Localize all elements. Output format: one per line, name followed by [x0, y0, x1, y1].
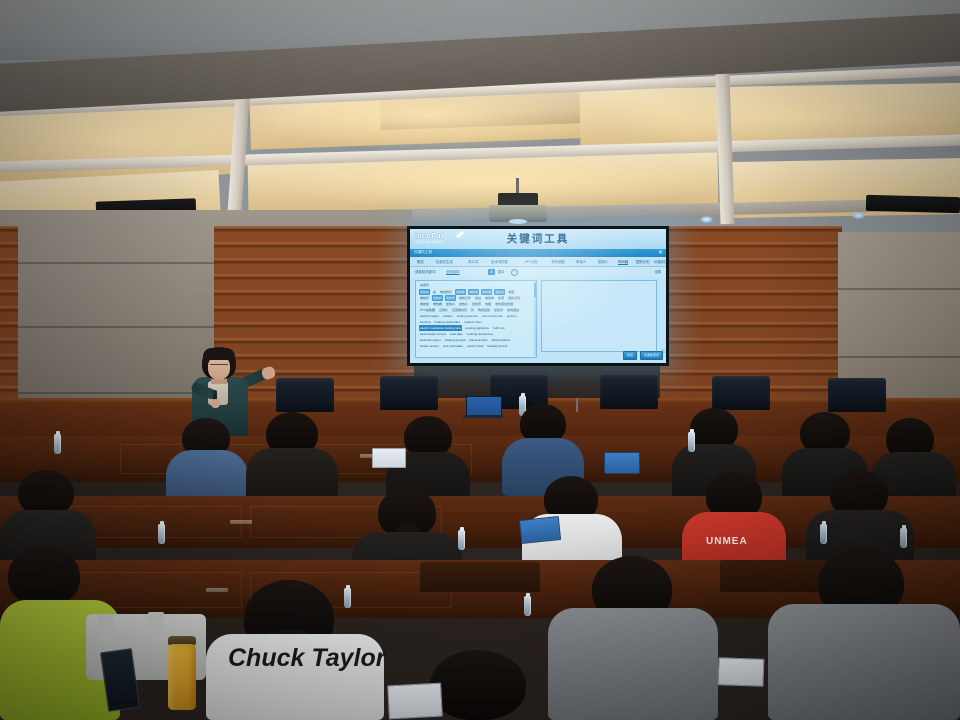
- glasses-icon: [210, 364, 228, 369]
- scrollbar-thumb[interactable]: [534, 283, 537, 297]
- clear-button[interactable]: 清空: [623, 351, 637, 360]
- audience-torso-gray: [548, 608, 718, 720]
- tablet-device: [387, 683, 443, 720]
- keyword-tag[interactable]: wire and ferrule: [481, 313, 504, 319]
- seat-back: [420, 562, 540, 592]
- projector-lens: [509, 219, 527, 224]
- downlight: [852, 212, 865, 219]
- tab-synonyms[interactable]: 同义词: [468, 259, 478, 264]
- keyword-tag[interactable]: igniters: [506, 313, 518, 319]
- language-chip[interactable]: 中: [488, 269, 495, 275]
- downlight: [700, 216, 713, 223]
- tablet-screen: [519, 516, 561, 544]
- keyword-tag[interactable]: electric heat: [466, 343, 484, 349]
- tab-strip: 概览 检索式生成 同义词 技术词挖掘 IPC分类 专利地图 申请人 发明人 时间…: [410, 257, 666, 267]
- audience-head: [430, 650, 526, 720]
- tab-patent-map[interactable]: 专利地图: [551, 259, 565, 264]
- audience-torso-gray: [768, 604, 960, 720]
- keyword-tag-row: heater sectionwire coil heaterelectric h…: [419, 343, 534, 349]
- laptop-screen: [604, 452, 640, 474]
- tab-inventor[interactable]: 发明人: [598, 259, 608, 264]
- tab-country[interactable]: 国别分布: [636, 259, 650, 264]
- keyword-tag-rows: 加热丝丝电加热管发热体电热丝加热器发热丝电阻电热管加热棒发热管电热元件热丝电热体…: [419, 289, 534, 349]
- app-body: 关键词 加热丝丝电加热管发热体电热丝加热器发热丝电阻电热管加热棒发热管电热元件热…: [410, 277, 666, 363]
- ceiling: [0, 0, 960, 232]
- translate-label: 翻译: [498, 269, 504, 274]
- ceiling-speaker: [866, 195, 960, 213]
- app-header: incoPat 全球专利检索数据库 关键词工具: [410, 229, 666, 249]
- keyword-scrollbar[interactable]: [534, 282, 537, 356]
- keyword-tag[interactable]: bulb can: [492, 325, 505, 331]
- settings-label[interactable]: 设置: [655, 269, 661, 274]
- tab-term-mining[interactable]: 技术词挖掘: [491, 259, 508, 264]
- presenter-left-hand: [211, 399, 220, 408]
- podium-chair: [276, 378, 334, 412]
- filter-row: 请选择关键词 全部选择 中 翻译 ? 设置: [410, 267, 666, 277]
- page-title: 关键词工具: [410, 231, 666, 246]
- tab-query-builder[interactable]: 检索式生成: [436, 259, 453, 264]
- keyword-group-label: 关键词: [420, 283, 429, 287]
- projected-application: incoPat 全球专利检索数据库 关键词工具 关键词工具 ✕ 概览 检索式生成…: [410, 229, 666, 363]
- water-bottle: [688, 432, 695, 452]
- amber-tumbler: [168, 644, 196, 710]
- filter-label: 请选择关键词: [415, 269, 435, 274]
- lecture-hall-photo: incoPat 全球专利检索数据库 关键词工具 关键词工具 ✕ 概览 检索式生成…: [0, 0, 960, 720]
- podium-chair: [712, 376, 770, 410]
- podium-chair: [600, 375, 658, 409]
- tab-overview[interactable]: 概览: [417, 259, 424, 264]
- tab-timeline[interactable]: 时间轴: [618, 259, 628, 266]
- bag-strap: [98, 614, 114, 642]
- tablet-device: [718, 657, 765, 687]
- podium-chair: [380, 376, 438, 410]
- water-bottle: [458, 530, 465, 550]
- keyword-tag[interactable]: heating current: [486, 343, 508, 349]
- projection-screen: incoPat 全球专利检索数据库 关键词工具 关键词工具 ✕ 概览 检索式生成…: [407, 226, 669, 366]
- window-title-label: 关键词工具: [414, 250, 432, 255]
- help-icon[interactable]: ?: [511, 269, 518, 276]
- laptop-screen: [372, 448, 406, 468]
- presenter-fringe: [203, 348, 235, 360]
- podium-chair: [828, 378, 886, 412]
- water-bottle: [344, 588, 351, 608]
- podium-laptop-base: [463, 415, 503, 418]
- select-all-link[interactable]: 全部选择: [446, 269, 460, 274]
- tab-valuation[interactable]: 价值评估: [654, 259, 666, 264]
- action-button-row: 清空 生成检索式: [623, 351, 663, 360]
- keyword-list-pane[interactable]: 关键词 加热丝丝电加热管发热体电热丝加热器发热丝电阻电热管加热棒发热管电热元件热…: [415, 280, 537, 358]
- water-bottle: [54, 434, 61, 454]
- shirt-text-chuck-taylor: Chuck Taylor: [228, 644, 385, 673]
- generate-button[interactable]: 生成检索式: [640, 351, 663, 360]
- tab-ipc[interactable]: IPC分类: [525, 259, 537, 264]
- water-bottle: [900, 528, 907, 548]
- keyword-tag[interactable]: wire coil heater: [442, 343, 464, 349]
- water-bottle: [158, 524, 165, 544]
- tab-applicant[interactable]: 申请人: [576, 259, 586, 264]
- bag-strap: [148, 612, 164, 640]
- water-bottle: [820, 524, 827, 544]
- water-bottle: [524, 596, 531, 616]
- close-icon[interactable]: ✕: [658, 249, 663, 257]
- window-title-bar: 关键词工具 ✕: [410, 249, 666, 257]
- desk-microphone: [576, 398, 578, 412]
- keyword-tag[interactable]: heater section: [419, 343, 440, 349]
- query-output-pane[interactable]: [541, 280, 657, 352]
- shirt-text-unmea: UNMEA: [706, 536, 748, 547]
- audience-head: [8, 546, 80, 606]
